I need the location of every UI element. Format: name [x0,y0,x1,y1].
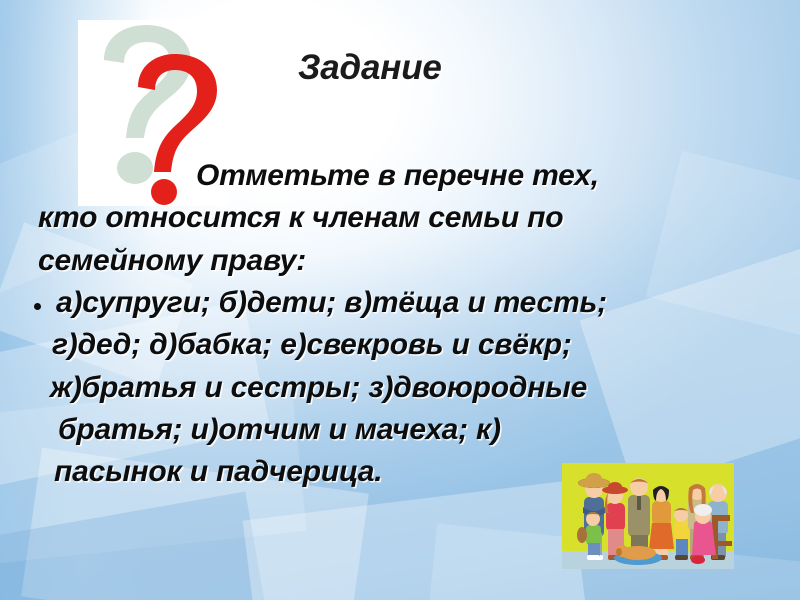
bullet-point-marker [34,303,41,310]
family-picture-canvas [562,463,734,569]
options-line-2: г)дед; д)бабка; е)свекровь и свёкр; [52,330,572,360]
options-line-1: а)супруги; б)дети; в)тёща и тесть; [56,288,607,318]
intro-line-3: семейному праву: [38,246,306,276]
options-line-3: ж)братья и сестры; з)двоюродные [50,373,587,403]
options-line-5: пасынок и падчерица. [54,457,382,487]
presentation-slide: Задание Отметьте в перечне тех, кто отно… [0,0,800,600]
intro-line-1: Отметьте в перечне тех, [196,161,599,191]
cartoon-family-illustration [562,463,734,569]
page-title: Задание [298,48,442,88]
intro-line-2: кто относится к членам семьи по [38,203,563,233]
figure-boy-in-yellow-shirt [674,508,689,560]
options-line-4: братья; и)отчим и мачеха; к) [58,415,501,445]
